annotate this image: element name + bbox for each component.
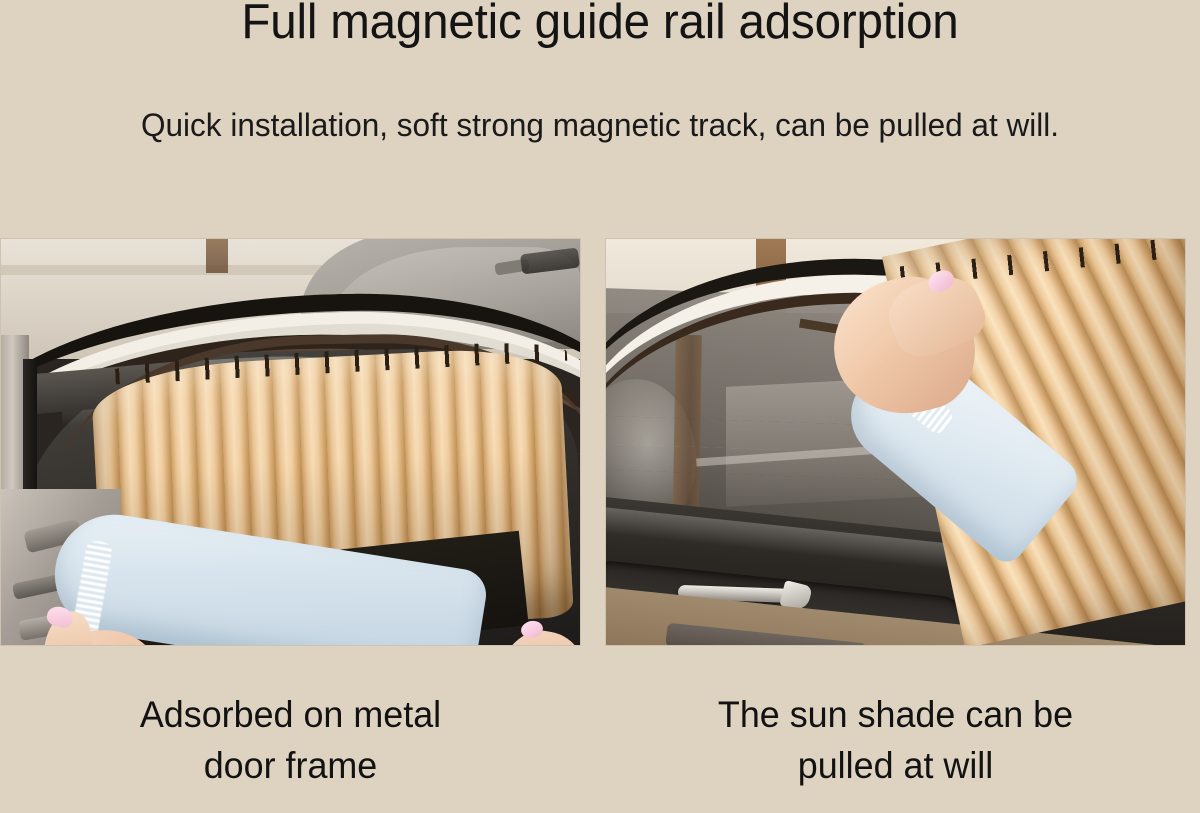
header: Full magnetic guide rail adsorption Quic… [0,0,1200,144]
product-photo-row [0,238,1200,646]
caption-left-line1: Adsorbed on metal [9,689,573,740]
product-photo-left [0,238,581,646]
caption-left: Adsorbed on metal door frame [9,689,573,791]
caption-right: The sun shade can be pulled at will [614,689,1178,791]
caption-right-line2: pulled at will [614,740,1178,791]
product-photo-right [605,238,1186,646]
car-window-pull-scene [606,239,1185,645]
page-subtitle: Quick installation, soft strong magnetic… [9,106,1191,144]
caption-left-line2: door frame [9,740,573,791]
background-post [206,239,228,273]
caption-right-line1: The sun shade can be [614,689,1178,740]
car-window-install-scene [1,239,580,645]
page-title: Full magnetic guide rail adsorption [18,0,1182,50]
caption-row: Adsorbed on metal door frame The sun sha… [0,689,1200,807]
